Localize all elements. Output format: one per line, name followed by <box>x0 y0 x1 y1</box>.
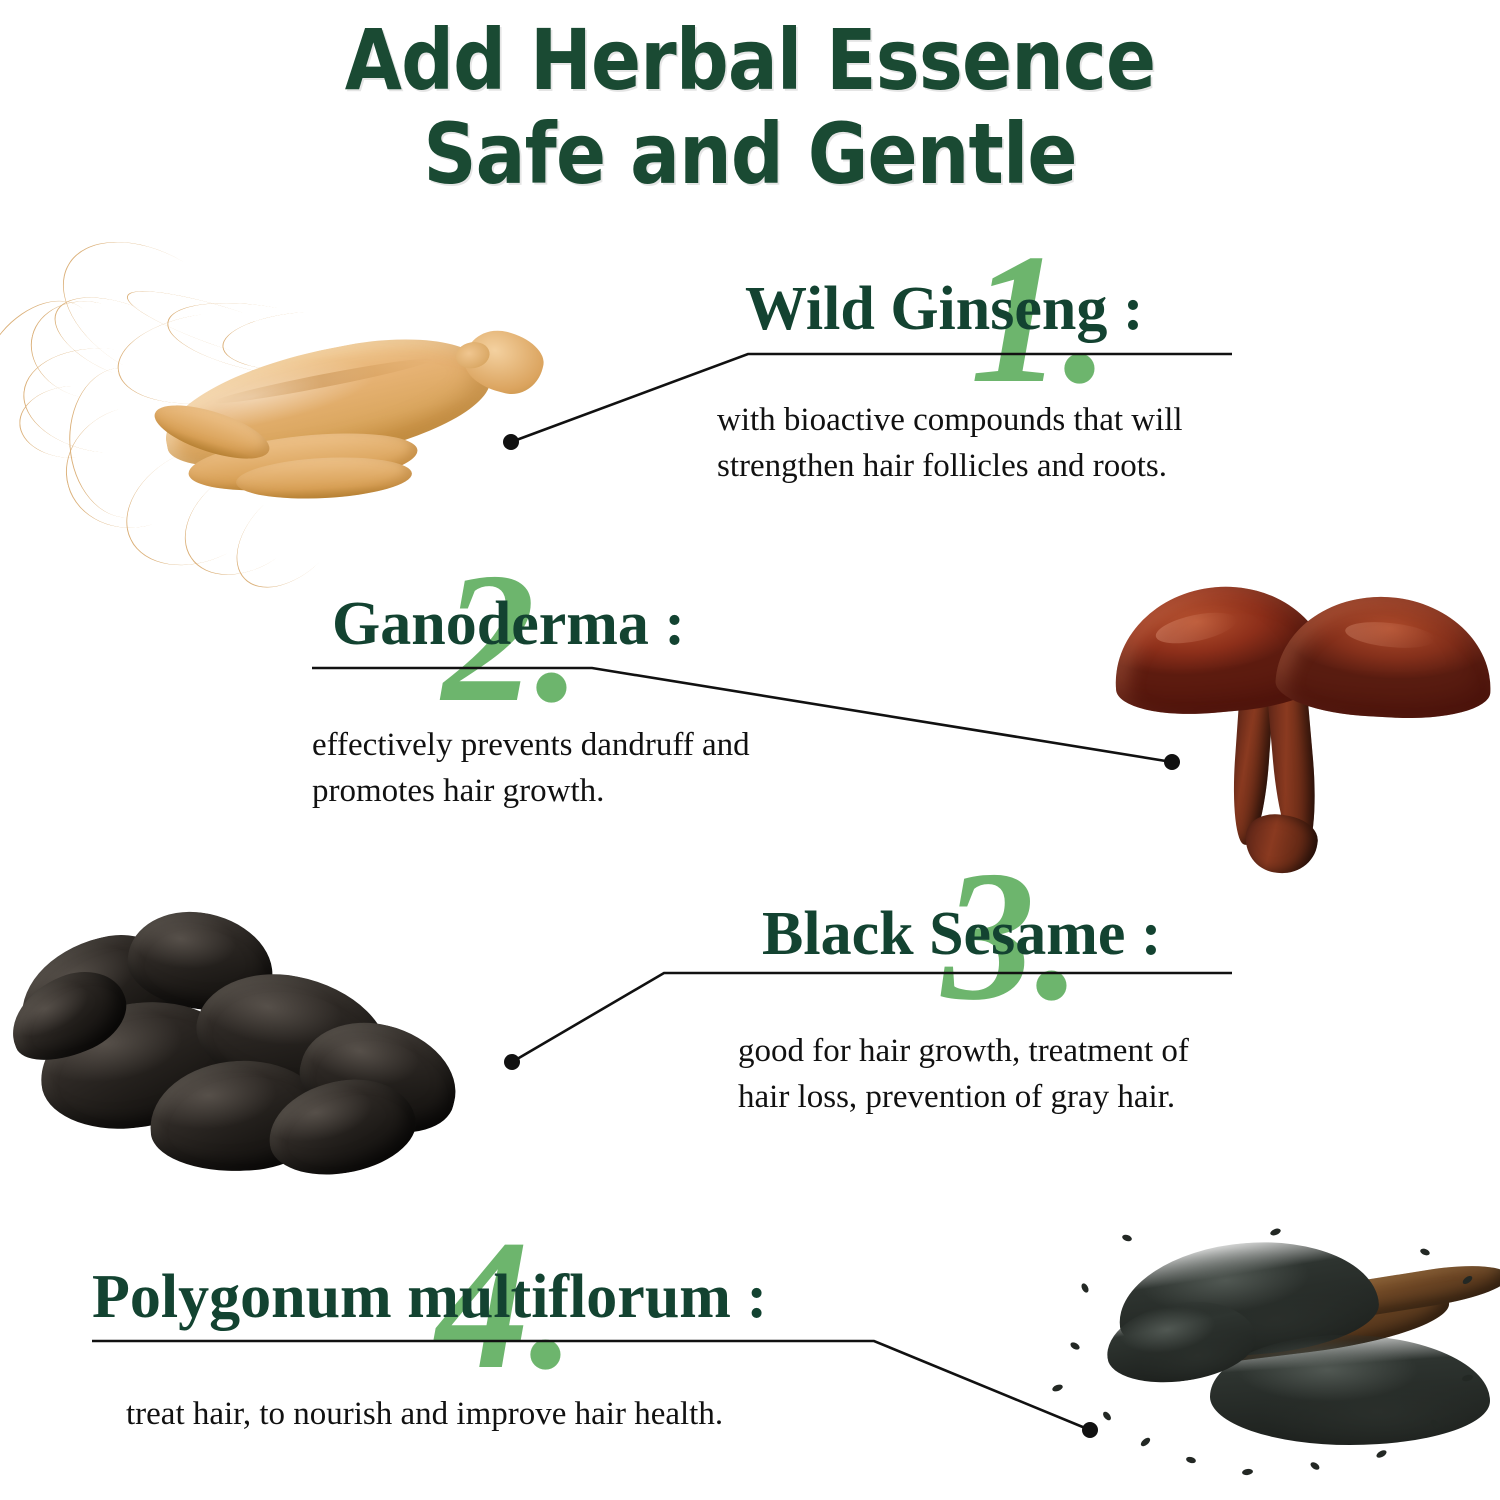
item-3-description-line-1: good for hair growth, treatment of <box>738 1028 1189 1075</box>
wild-ginseng-root-photo <box>10 290 555 560</box>
black-sesame-seeds-scoop-photo <box>1010 1225 1500 1500</box>
item-1-description-line-1: with bioactive compounds that will <box>717 397 1183 444</box>
ganoderma-mushroom-photo <box>1095 565 1495 865</box>
page-title-line-2: Safe and Gentle <box>90 102 1410 196</box>
item-3-heading: 3. Black Sesame : <box>762 865 1282 965</box>
item-2-heading: 2. Ganoderma : <box>312 555 832 655</box>
page-title-line-1: Add Herbal Essence <box>90 0 1410 102</box>
item-1-description-line-2: strengthen hair follicles and roots. <box>717 443 1167 490</box>
item-4-heading: 4. Polygonum multiflorum : <box>92 1228 912 1328</box>
page-header: Add Herbal Essence Safe and Gentle <box>0 0 1500 200</box>
item-4-description-line-1: treat hair, to nourish and improve hair … <box>126 1391 723 1438</box>
item-2: 2. Ganoderma : effectively prevents dand… <box>312 555 832 655</box>
item-2-title: Ganoderma : <box>312 555 832 655</box>
item-1-title: Wild Ginseng : <box>745 240 1265 340</box>
item-4: 4. Polygonum multiflorum : treat hair, t… <box>92 1228 912 1328</box>
item-4-title: Polygonum multiflorum : <box>92 1228 912 1328</box>
item-3: 3. Black Sesame : good for hair growth, … <box>762 865 1282 965</box>
item-1: 1. Wild Ginseng : with bioactive compoun… <box>745 240 1265 340</box>
item-2-description-line-2: promotes hair growth. <box>312 768 604 815</box>
item-1-heading: 1. Wild Ginseng : <box>745 240 1265 340</box>
item-2-description-line-1: effectively prevents dandruff and <box>312 722 750 769</box>
item-3-description-line-2: hair loss, prevention of gray hair. <box>738 1074 1175 1121</box>
item-3-title: Black Sesame : <box>762 865 1282 965</box>
dried-dark-root-slices-photo <box>0 885 510 1185</box>
